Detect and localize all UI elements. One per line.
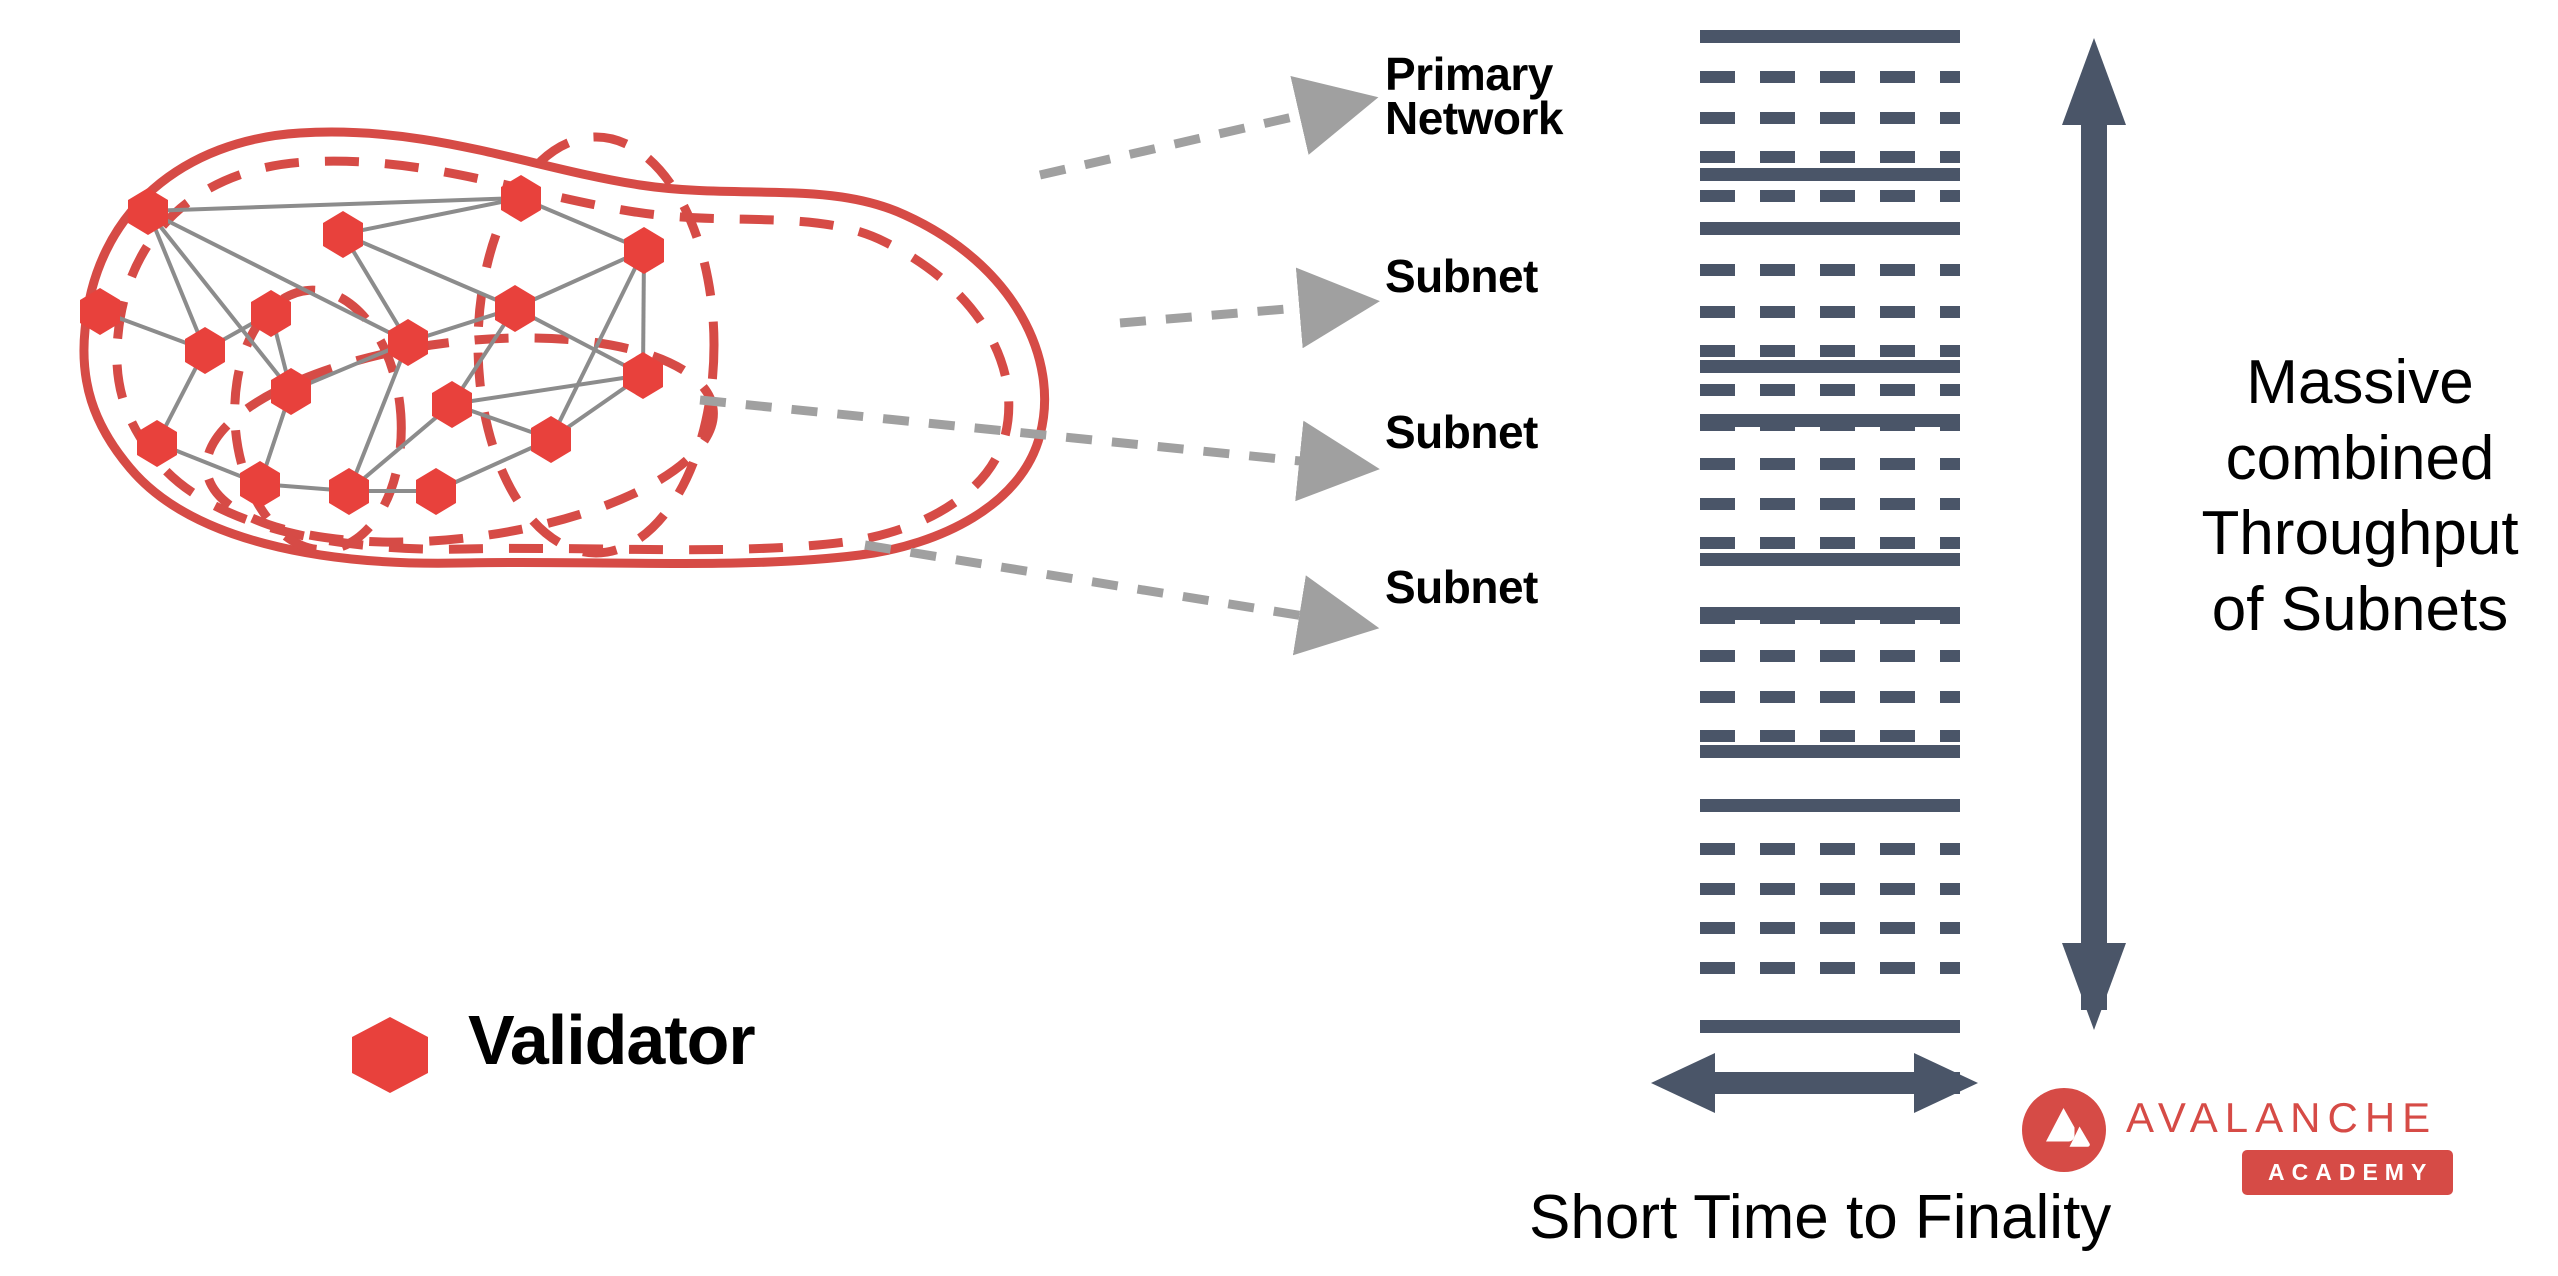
avalanche-triangle-icon	[2022, 1088, 2106, 1172]
subnet-block-row	[1700, 264, 1960, 276]
validator-node	[624, 227, 664, 274]
subnet-block-row	[1700, 458, 1960, 470]
throughput-label-line-2: combined	[2160, 421, 2558, 497]
primary-network-block	[1700, 799, 1960, 812]
subnet-block-row	[1700, 922, 1960, 934]
subnet-block-row	[1700, 345, 1960, 357]
subnet-block-row	[1700, 843, 1960, 855]
throughput-label-line-4: of Subnets	[2160, 572, 2558, 648]
subnet-block-row	[1700, 306, 1960, 318]
subnet-block-row	[1700, 730, 1960, 742]
validator-node	[240, 461, 280, 508]
callout-label-primary-network-line2: Network	[1385, 94, 1563, 144]
hexagon-icon	[345, 1013, 435, 1093]
validator-node	[495, 285, 535, 332]
callout-label-subnet-3: Subnet	[1385, 563, 1538, 613]
callout-label-subnet-1: Subnet	[1385, 252, 1538, 302]
throughput-label-line-3: Throughput	[2160, 496, 2558, 572]
validator-node	[531, 416, 571, 463]
logo-wordmark: AVALANCHE	[2126, 1094, 2437, 1142]
subnet-block-row	[1700, 691, 1960, 703]
primary-network-block	[1700, 30, 1960, 43]
validator-node	[388, 319, 428, 366]
validator-node	[416, 468, 456, 515]
callout-label-subnet-2: Subnet	[1385, 408, 1538, 458]
validator-node	[329, 468, 369, 515]
primary-network-block	[1700, 222, 1960, 235]
subnet-block-row	[1700, 883, 1960, 895]
throughput-label-line-1: Massive	[2160, 345, 2558, 421]
subnet-block-row	[1700, 537, 1960, 549]
subnet-block-row	[1700, 384, 1960, 396]
finality-arrow	[1651, 1053, 1978, 1113]
validator-node	[185, 327, 225, 374]
callout-arrow-subnet-3	[865, 545, 1310, 617]
primary-network-block	[1700, 1020, 1960, 1033]
validator-node	[432, 381, 472, 428]
legend-label-validator: Validator	[468, 1003, 755, 1079]
subnet-block-row	[1700, 962, 1960, 974]
validator-node	[323, 211, 363, 258]
callout-arrow-subnet-1	[1120, 307, 1310, 323]
primary-network-block	[1700, 360, 1960, 373]
primary-network-block	[1700, 168, 1960, 181]
subnet-block-row	[1700, 151, 1960, 163]
primary-network-block	[1700, 553, 1960, 566]
callout-arrow-primary-network	[1040, 113, 1310, 175]
throughput-arrow	[2062, 38, 2126, 1030]
primary-network-block	[1700, 745, 1960, 758]
subnet-block-row	[1700, 190, 1960, 202]
validator-node	[137, 420, 177, 467]
logo-academy-badge: ACADEMY	[2242, 1150, 2453, 1195]
subnet-block-row	[1700, 71, 1960, 83]
block-stack	[1700, 30, 1960, 1033]
subnet-block-row	[1700, 112, 1960, 124]
subnet-block-row	[1700, 498, 1960, 510]
subnet-block-row	[1700, 650, 1960, 662]
avalanche-academy-logo: AVALANCHE ACADEMY	[2022, 1088, 2492, 1218]
diagram-root: Primary Network Subnet Subnet Subnet Val…	[0, 0, 2558, 1276]
throughput-axis-label: Massive combined Throughput of Subnets	[2160, 345, 2558, 648]
